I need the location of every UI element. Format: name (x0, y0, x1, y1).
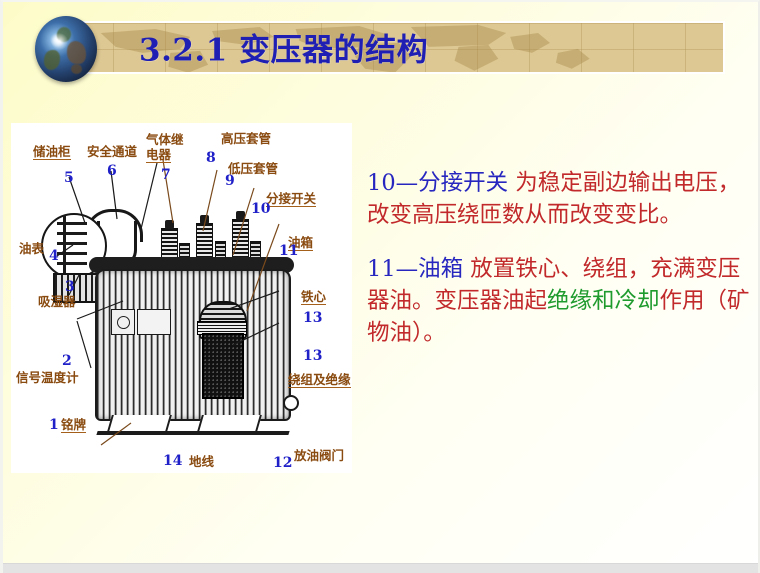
figure-label-diyataoguan: 低压套管 (228, 162, 278, 175)
figure-label-fangyoufamen: 放油阀门 (294, 449, 344, 462)
paragraph-item-11: 11—油箱 放置铁心、绕组，充满变压器油。变压器油起绝缘和冷却作用（矿物油）。 (367, 253, 759, 349)
transformer-diagram: 储油柜 安全通道 气体继 电器 高压套管 低压套管 分接开关 油箱 油表 吸湿器… (11, 123, 352, 473)
figure-label-fenjiekaiguan: 分接开关 (266, 192, 316, 207)
globe-icon (35, 16, 97, 82)
figure-number-11: 11 (279, 243, 298, 259)
figure-label-xishiqi: 吸湿器 (38, 295, 76, 308)
globe-specular-highlight (51, 33, 68, 50)
page-title: 3.2.1 变压器的结构 (139, 24, 428, 69)
figure-number-6: 6 (107, 163, 117, 179)
paragraph-item-10: 10—分接开关 为稳定副边输出电压，改变高压绕匝数从而改变变比。 (367, 167, 759, 231)
globe-landmass (44, 50, 60, 70)
figure-label-qitijidianqi-line1: 气体继 (146, 133, 184, 146)
figure-number-13-coil: 13 (303, 348, 322, 364)
figure-number-1: 1 (49, 417, 59, 433)
figure-number-8: 8 (206, 150, 216, 166)
figure-number-12: 12 (273, 455, 292, 471)
header-banner: 3.2.1 变压器的结构 (59, 21, 725, 74)
figure-number-13-core: 13 (303, 310, 322, 326)
figure-label-anquantongdao: 安全通道 (87, 145, 137, 158)
content-text-block: 10—分接开关 为稳定副边输出电压，改变高压绕匝数从而改变变比。 11—油箱 放… (367, 167, 759, 371)
figure-label-gaoyataoguan: 高压套管 (221, 132, 271, 145)
figure-label-xinhaowenduji: 信号温度计 (16, 371, 79, 384)
figure-number-7: 7 (161, 167, 171, 183)
figure-label-youbiao: 油表 (19, 242, 44, 255)
figure-label-qitijidianqi-line2: 电器 (146, 148, 171, 163)
figure-number-3: 3 (65, 279, 75, 295)
figure-number-4: 4 (49, 248, 59, 264)
figure-number-5: 5 (64, 170, 74, 186)
figure-number-9: 9 (225, 173, 235, 189)
slide-root: 3.2.1 变压器的结构 (0, 0, 760, 573)
item-11-heading: 11—油箱 (367, 256, 463, 282)
figure-label-dixian: 地线 (189, 455, 214, 468)
figure-label-tiexin: 铁心 (301, 290, 326, 305)
globe-landmass (71, 64, 82, 75)
figure-label-chuyougui: 储油柜 (33, 145, 71, 160)
figure-label-raozujijiyuan: 绕组及绝缘 (288, 373, 351, 388)
item-11-highlight: 绝缘和冷却 (547, 288, 660, 314)
item-10-heading: 10—分接开关 (367, 170, 508, 196)
globe-landmass (67, 41, 86, 63)
figure-number-2: 2 (62, 353, 72, 369)
bottom-edge-strip (3, 563, 758, 573)
figure-number-10: 10 (251, 201, 270, 217)
figure-number-14: 14 (163, 453, 182, 469)
figure-label-mingpai: 铭牌 (61, 418, 86, 433)
